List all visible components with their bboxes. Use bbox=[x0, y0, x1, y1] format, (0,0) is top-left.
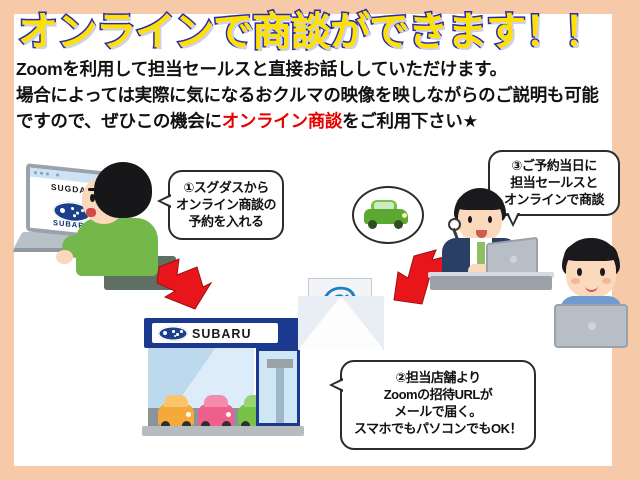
person-hand bbox=[56, 250, 73, 264]
salesperson-desk bbox=[430, 276, 552, 290]
callout-2-line-4: スマホでもパソコンでもOK！ bbox=[342, 420, 534, 437]
illustration-salesperson bbox=[430, 188, 542, 290]
illustration-customer-right bbox=[548, 238, 636, 350]
callout-3-line-1: ③ご予約当日に bbox=[490, 157, 618, 174]
callout-step-2: ②担当店舗より Zoomの招待URLが メールで届く。 スマホでもパソコンでもO… bbox=[340, 360, 536, 450]
customer-cheek-left bbox=[571, 278, 580, 284]
car-thought-bubble bbox=[352, 186, 424, 244]
intro-paragraph: Zoomを利用して担当セールスと直接お話ししていただけます。 場合によっては実際… bbox=[16, 56, 616, 134]
green-car-icon bbox=[364, 200, 408, 226]
customer-fringe bbox=[564, 244, 618, 261]
pink-car-icon bbox=[198, 404, 234, 426]
intro-line-3-post: をご利用下さい★ bbox=[342, 111, 478, 131]
envelope-flap-front bbox=[298, 296, 384, 350]
callout-1-tail bbox=[161, 196, 172, 206]
customer-eye-right bbox=[600, 268, 605, 276]
subaru-logo-sign-icon bbox=[158, 326, 188, 341]
callout-step-1: ①スグダスから オンライン商談の 予約を入れる bbox=[168, 170, 284, 240]
salesperson-fringe bbox=[456, 194, 504, 210]
callout-2-line-3: メールで届く。 bbox=[342, 403, 534, 420]
callout-2-line-2: Zoomの招待URLが bbox=[342, 386, 534, 403]
customer-laptop bbox=[554, 304, 628, 348]
dealership-base bbox=[142, 426, 304, 436]
customer-eye-left bbox=[577, 268, 582, 276]
page-title: オンラインで商談ができます！！ bbox=[18, 6, 598, 58]
dealership-sign: SUBARU bbox=[152, 323, 278, 343]
intro-highlight: オンライン商談 bbox=[222, 111, 342, 131]
callout-1-line-2: オンライン商談の bbox=[170, 196, 282, 213]
person-hair bbox=[94, 162, 152, 218]
intro-line-1: Zoomを利用して担当セールスと直接お話ししていただけます。 bbox=[16, 56, 616, 82]
salesperson-eye-right bbox=[488, 216, 492, 223]
intro-line-2: 場合によっては実際に気になるおクルマの映像を映しながらのご説明も可能 bbox=[16, 82, 616, 108]
callout-2-tail bbox=[333, 380, 344, 390]
illustration-dealership: SUBARU bbox=[140, 318, 308, 446]
person-eye bbox=[90, 194, 95, 202]
dealership-sign-text: SUBARU bbox=[192, 327, 251, 341]
salesperson-eye-left bbox=[468, 216, 472, 223]
callout-1-line-1: ①スグダスから bbox=[170, 179, 282, 196]
callout-1-line-3: 予約を入れる bbox=[170, 213, 282, 230]
customer-cheek-right bbox=[602, 278, 611, 284]
dealership-door bbox=[256, 348, 300, 426]
arrow-down-right-icon bbox=[155, 253, 217, 315]
intro-line-3: ですので、ぜひこの機会にオンライン商談をご利用下さい★ bbox=[16, 108, 616, 134]
orange-car-icon bbox=[158, 404, 194, 426]
person-eyebrow bbox=[88, 188, 98, 191]
poster-root: オンラインで商談ができます！！ Zoomを利用して担当セールスと直接お話ししてい… bbox=[0, 0, 640, 480]
email-envelope-icon: @ bbox=[298, 278, 384, 350]
callout-2-line-1: ②担当店舗より bbox=[342, 369, 534, 386]
intro-line-3-pre: ですので、ぜひこの機会に bbox=[16, 111, 222, 131]
person-mouth bbox=[86, 208, 96, 217]
